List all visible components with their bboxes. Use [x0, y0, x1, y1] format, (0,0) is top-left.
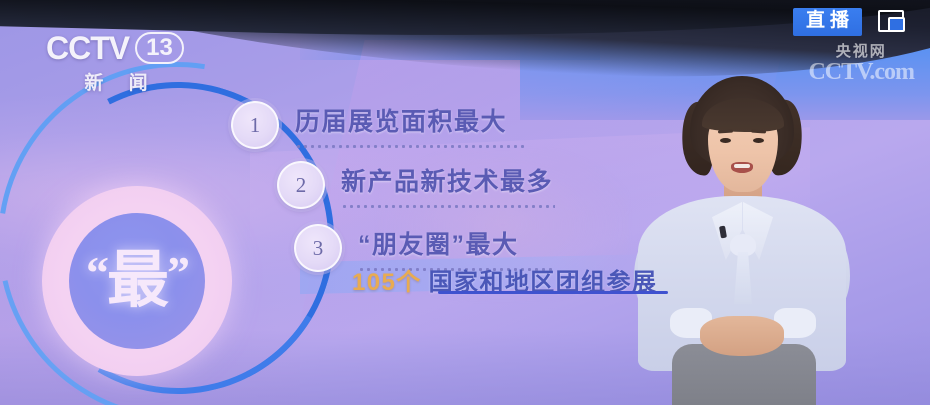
- channel-logo-cctv: CCTV: [46, 32, 129, 64]
- broadcast-screen: “最” 1 历届展览面积最大 2 新产品新技术最多 3 “朋友圈”最大: [0, 0, 930, 405]
- list-item: 1 历届展览面积最大: [231, 101, 527, 149]
- subline-count: 105个: [352, 269, 422, 296]
- watermark: 央视网 CCTV.com: [808, 44, 914, 84]
- dotted-underline-1: [295, 144, 527, 149]
- channel-logo-number: 13: [135, 32, 184, 64]
- anchor-eye-right: [753, 138, 764, 143]
- watermark-cn: 央视网: [808, 44, 914, 59]
- list-item-headline-1: 历届展览面积最大: [295, 102, 527, 138]
- list-item-text-1: 历届展览面积最大: [295, 102, 527, 149]
- subline-rule: [438, 291, 668, 294]
- picture-in-picture-icon[interactable]: [878, 10, 904, 30]
- list-item-headline-3: “朋友圈”最大: [358, 225, 554, 261]
- list-item-badge-3: 3: [294, 224, 342, 272]
- watermark-en: CCTV.com: [808, 60, 914, 84]
- list-item-headline-2: 新产品新技术最多: [341, 162, 555, 198]
- anchor-eye-left: [720, 138, 731, 143]
- channel-logo-main: CCTV 13: [46, 32, 206, 64]
- dotted-underline-2: [341, 204, 555, 209]
- pip-icon-inner-frame: [888, 17, 905, 32]
- anchor-mouth: [731, 162, 753, 173]
- list-item: 2 新产品新技术最多: [277, 161, 555, 209]
- channel-logo-subtitle: 新 闻: [46, 68, 186, 95]
- list-item-badge-1: 1: [231, 101, 279, 149]
- list-item-text-2: 新产品新技术最多: [341, 162, 555, 209]
- anchor-hands: [700, 316, 784, 356]
- list-item-badge-2: 2: [277, 161, 325, 209]
- channel-logo: CCTV 13 新 闻: [46, 32, 206, 95]
- live-badge: 直播: [793, 8, 862, 36]
